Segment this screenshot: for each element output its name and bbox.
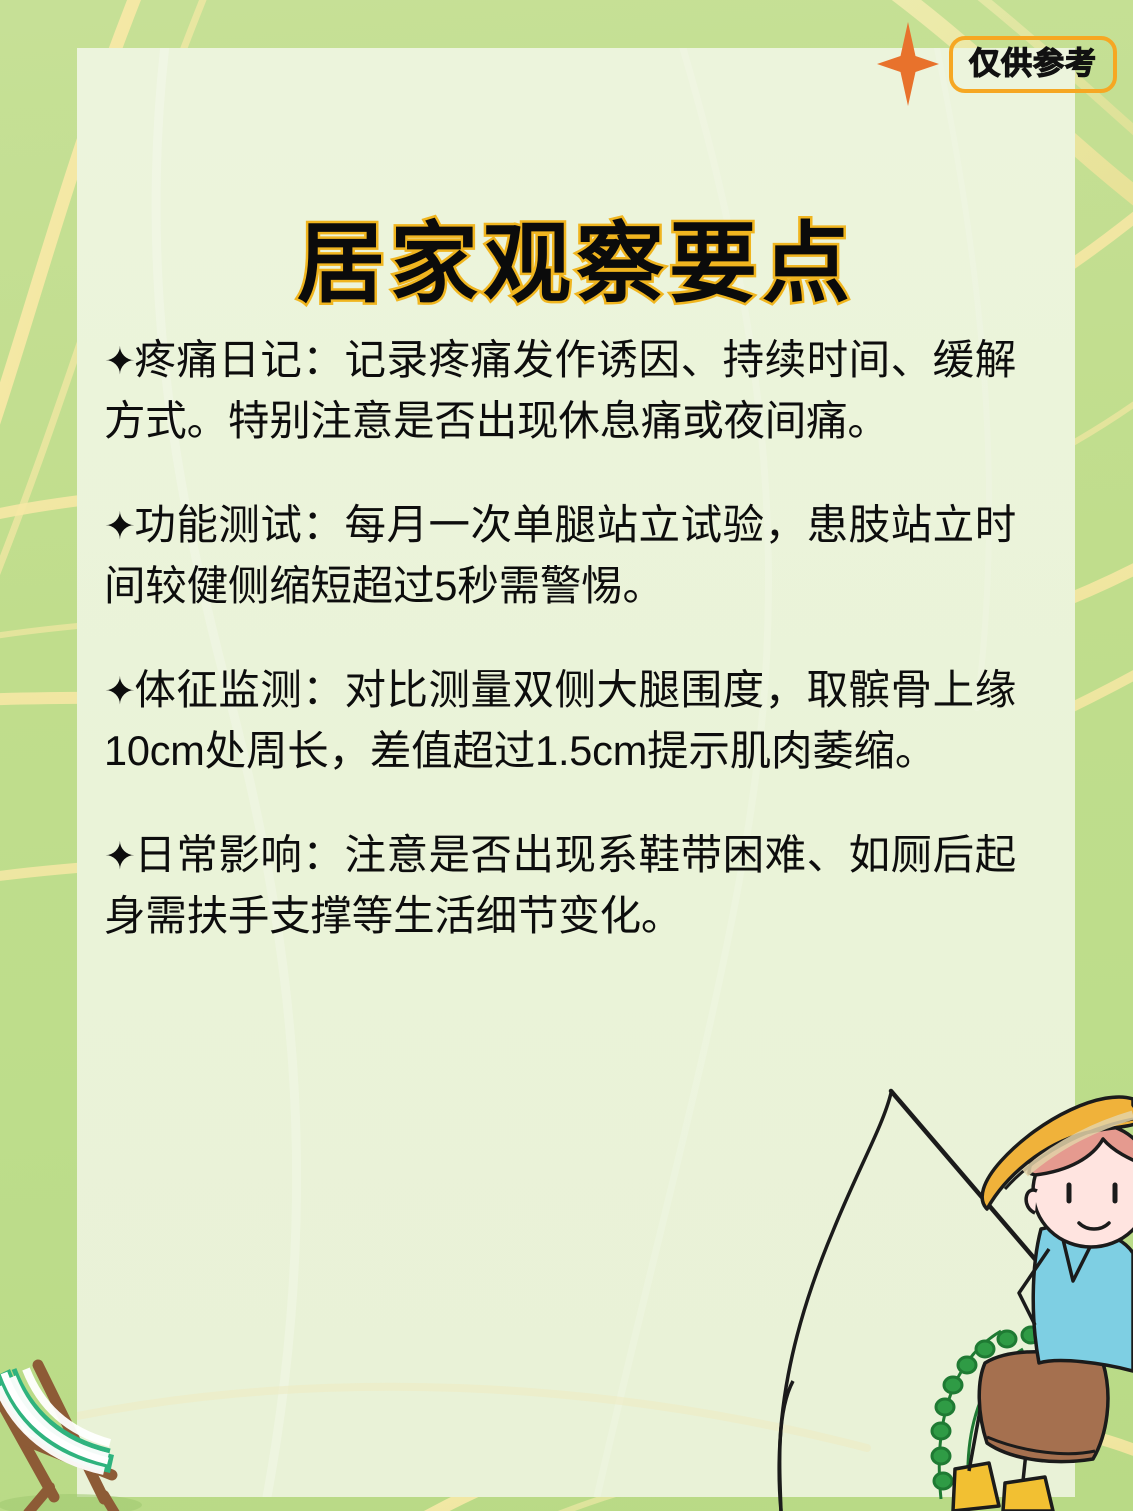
page-title: 居家观察要点 — [77, 193, 1075, 320]
page-title-text: 居家观察要点 — [297, 193, 855, 320]
paragraph-daily-impact: ✦日常影响：注意是否出现系鞋带困难、如厕后起身需扶手支撑等生活细节变化。 — [104, 825, 1016, 946]
paragraph-sign-monitoring-text: 体征监测：对比测量双侧大腿围度，取髌骨上缘10cm处周长，差值超过1.5cm提示… — [104, 666, 1016, 774]
reference-only-badge[interactable]: 仅供参考 — [949, 36, 1117, 93]
bullet-star-icon: ✦ — [104, 341, 136, 383]
striped-deck-chair-illustration — [0, 1347, 182, 1511]
bullet-star-icon: ✦ — [104, 671, 136, 713]
bullet-star-icon: ✦ — [104, 836, 136, 878]
bullet-star-icon: ✦ — [104, 506, 136, 548]
paragraph-daily-impact-text: 日常影响：注意是否出现系鞋带困难、如厕后起身需扶手支撑等生活细节变化。 — [104, 831, 1016, 939]
paragraph-pain-diary: ✦疼痛日记：记录疼痛发作诱因、持续时间、缓解方式。特别注意是否出现休息痛或夜间痛… — [104, 330, 1016, 451]
paragraph-function-test: ✦功能测试：每月一次单腿站立试验，患肢站立时间较健侧缩短超过5秒需警惕。 — [104, 495, 1016, 616]
paragraph-sign-monitoring: ✦体征监测：对比测量双侧大腿围度，取髌骨上缘10cm处周长，差值超过1.5cm提… — [104, 660, 1016, 781]
content-body: ✦疼痛日记：记录疼痛发作诱因、持续时间、缓解方式。特别注意是否出现休息痛或夜间痛… — [104, 330, 1016, 947]
paragraph-function-test-text: 功能测试：每月一次单腿站立试验，患肢站立时间较健侧缩短超过5秒需警惕。 — [104, 501, 1016, 609]
poster-root: 仅供参考 居家观察要点 ✦疼痛日记：记录疼痛发作诱因、持续时间、缓解方式。特别注… — [0, 0, 1133, 1511]
four-point-star-icon — [877, 22, 939, 106]
paragraph-pain-diary-text: 疼痛日记：记录疼痛发作诱因、持续时间、缓解方式。特别注意是否出现休息痛或夜间痛。 — [104, 336, 1016, 444]
reference-only-badge-label: 仅供参考 — [969, 46, 1097, 81]
boy-fishing-with-straw-hat-illustration — [773, 1081, 1133, 1511]
reference-badge-row: 仅供参考 — [877, 22, 1117, 106]
